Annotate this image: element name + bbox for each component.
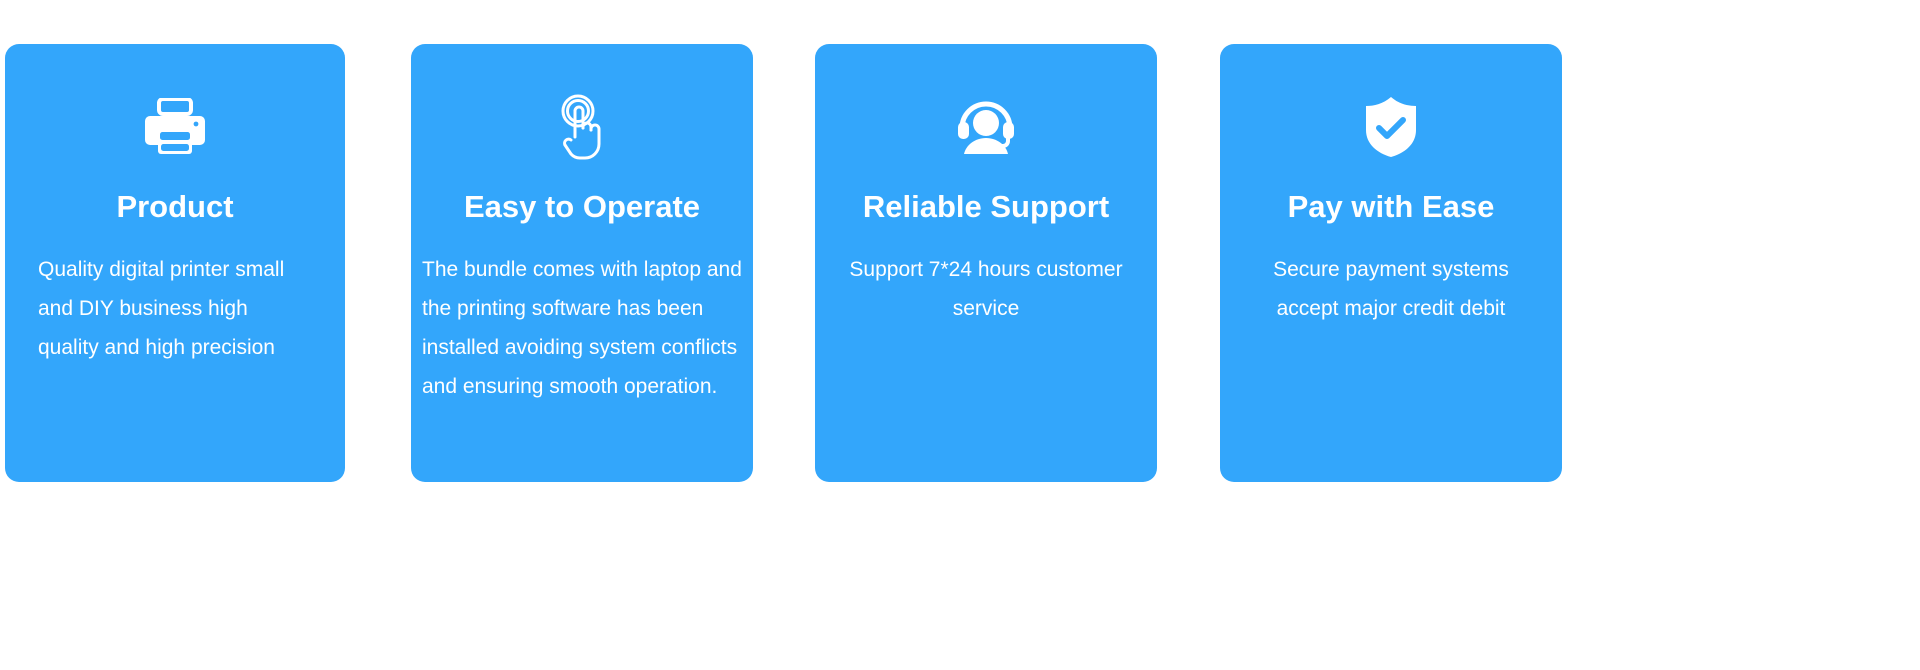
shield-check-icon	[1364, 94, 1418, 160]
card-body: Quality digital printer small and DIY bu…	[38, 250, 312, 367]
card-title: Product	[116, 190, 233, 224]
card-title: Easy to Operate	[464, 190, 700, 224]
card-title: Pay with Ease	[1288, 190, 1495, 224]
feature-cards-section: Product Quality digital printer small an…	[0, 0, 1920, 670]
feature-card-easy-to-operate[interactable]: Easy to Operate The bundle comes with la…	[411, 44, 753, 482]
feature-card-reliable-support[interactable]: Reliable Support Support 7*24 hours cust…	[815, 44, 1157, 482]
card-title: Reliable Support	[863, 190, 1109, 224]
card-body: Secure payment systems accept major cred…	[1246, 250, 1536, 328]
feature-card-pay-with-ease[interactable]: Pay with Ease Secure payment systems acc…	[1220, 44, 1562, 482]
tap-gesture-icon	[553, 94, 611, 160]
printer-icon	[144, 94, 206, 160]
card-body: The bundle comes with laptop and the pri…	[422, 250, 742, 406]
headset-support-icon	[956, 94, 1016, 160]
card-body: Support 7*24 hours customer service	[846, 250, 1126, 328]
feature-card-product[interactable]: Product Quality digital printer small an…	[5, 44, 345, 482]
